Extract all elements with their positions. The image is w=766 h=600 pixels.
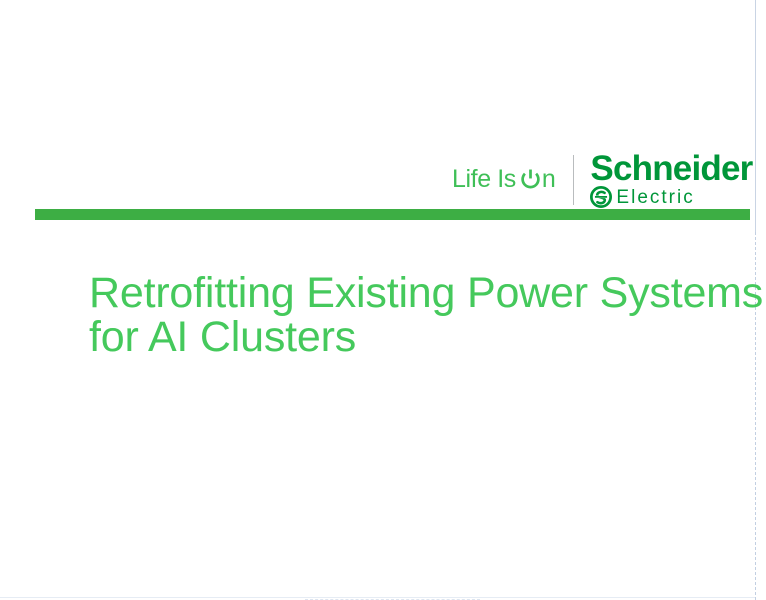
schneider-se-badge-icon [590,186,612,208]
brand-name: Schneider [590,152,752,185]
page-title-line-1: Retrofitting Existing Power Systems [89,272,729,316]
page-boundary-right-line [755,0,756,232]
power-symbol-icon [520,169,541,190]
tagline-text-before: Life Is [452,167,516,192]
page-title: Retrofitting Existing Power Systems for … [89,272,729,360]
life-is-on-tagline: Life Is n [452,167,555,194]
brand-sub-row: Electric [590,186,694,208]
slide-canvas: Life Is n Schneider Ele [0,0,766,600]
tagline-text-after: n [542,167,556,192]
accent-bar [35,209,750,220]
page-title-line-2: for AI Clusters [89,316,729,360]
schneider-electric-logo: Life Is n Schneider Ele [452,152,752,208]
page-boundary-bottom-line [0,597,755,598]
logo-divider [573,155,574,205]
brand-sub-name: Electric [616,188,694,207]
brandmark: Schneider Electric [590,152,752,208]
